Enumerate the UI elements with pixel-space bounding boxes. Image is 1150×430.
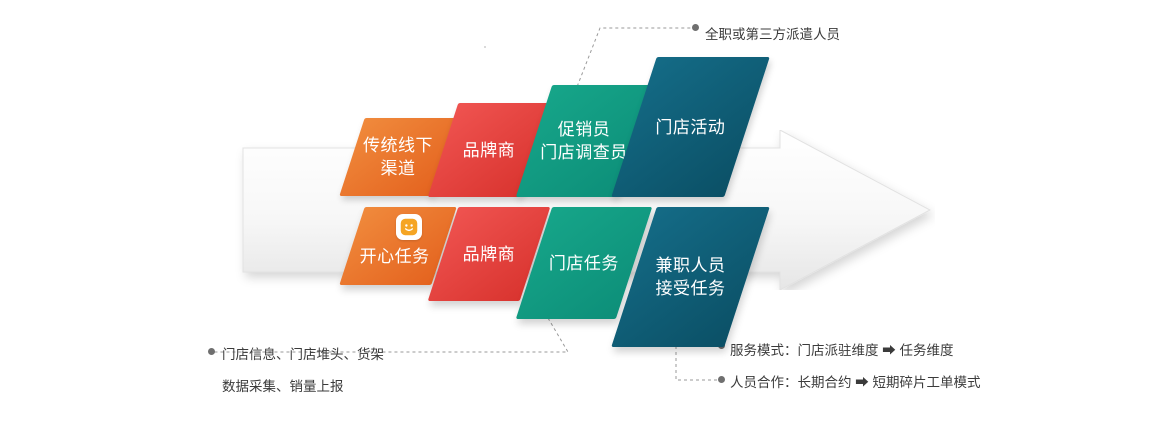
- callout-dot-bottom-left: [208, 348, 215, 355]
- callout-top-right: 全职或第三方派遣人员: [705, 24, 840, 46]
- callout-dot-bottom-right-2: [718, 376, 725, 383]
- top-block-1-label: 传统线下 渠道: [352, 134, 444, 180]
- callout-bottom-right: 服务模式：门店派驻维度 ➡ 任务维度 人员合作：长期合约 ➡ 短期碎片工单模式: [730, 340, 981, 394]
- top-block-3-label: 促销员 门店调查员: [534, 118, 634, 164]
- callout-bottom-left: 门店信息、门店堆头、货架 数据采集、销量上报: [222, 344, 384, 398]
- bottom-block-3-label: 门店任务: [534, 252, 634, 275]
- callout-bottom-left-line-2: 数据采集、销量上报: [222, 376, 384, 398]
- smiley-app-icon: [396, 214, 422, 240]
- bottom-block-1-label: 开心任务: [349, 245, 441, 268]
- speck: [484, 46, 486, 48]
- bottom-block-2-label: 品牌商: [443, 243, 535, 266]
- bottom-block-4-label: 兼职人员 接受任务: [634, 254, 747, 300]
- callout-bottom-left-line-1: 门店信息、门店堆头、货架: [222, 344, 384, 366]
- callout-dot-top: [692, 24, 699, 31]
- top-block-2-label: 品牌商: [443, 139, 535, 162]
- callout-bottom-right-line-2: 人员合作：长期合约 ➡ 短期碎片工单模式: [730, 372, 981, 394]
- callout-bottom-right-line-1: 服务模式：门店派驻维度 ➡ 任务维度: [730, 340, 981, 362]
- diagram-canvas: 传统线下 渠道 品牌商 促销员 门店调查员 门店活动 开心任务 品牌商: [0, 0, 1150, 430]
- top-block-4-label: 门店活动: [634, 116, 747, 139]
